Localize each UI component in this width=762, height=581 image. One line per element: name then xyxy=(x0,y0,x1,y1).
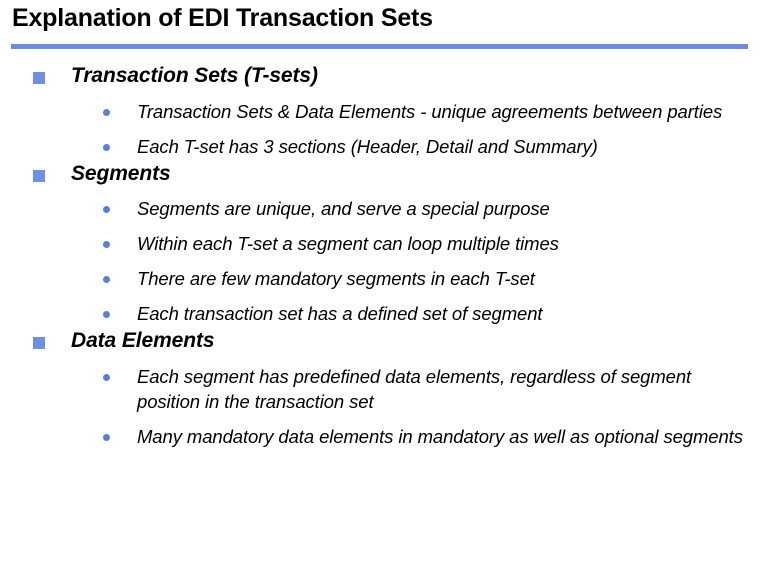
round-bullet-icon xyxy=(103,109,110,116)
round-bullet-icon xyxy=(103,206,110,213)
list-item: There are few mandatory segments in each… xyxy=(0,267,762,292)
section-transaction-sets: Transaction Sets (T-sets) Transaction Se… xyxy=(0,62,762,160)
round-bullet-icon xyxy=(103,374,110,381)
list-item-label: There are few mandatory segments in each… xyxy=(137,268,535,289)
section-heading-label: Data Elements xyxy=(71,329,214,352)
list-item-label: Each transaction set has a defined set o… xyxy=(137,303,542,324)
round-bullet-icon xyxy=(103,276,110,283)
slide: Explanation of EDI Transaction Sets Tran… xyxy=(0,0,762,581)
list-item-label: Transaction Sets & Data Elements - uniqu… xyxy=(137,101,722,122)
list-item-label: Many mandatory data elements in mandator… xyxy=(137,426,743,447)
section-heading-label: Segments xyxy=(71,162,171,185)
section-segments: Segments Segments are unique, and serve … xyxy=(0,160,762,328)
round-bullet-icon xyxy=(103,434,110,441)
square-bullet-icon xyxy=(33,72,45,84)
list-item: Transaction Sets & Data Elements - uniqu… xyxy=(0,100,762,125)
round-bullet-icon xyxy=(103,144,110,151)
slide-body: Transaction Sets (T-sets) Transaction Se… xyxy=(0,62,762,450)
section-heading: Segments xyxy=(0,160,762,188)
list-item-label: Each T-set has 3 sections (Header, Detai… xyxy=(137,136,598,157)
list-item: Within each T-set a segment can loop mul… xyxy=(0,232,762,257)
section-heading: Data Elements xyxy=(0,327,762,355)
section-data-elements: Data Elements Each segment has predefine… xyxy=(0,327,762,450)
list-item: Each T-set has 3 sections (Header, Detai… xyxy=(0,135,762,160)
list-item-label: Each segment has predefined data element… xyxy=(137,366,691,412)
list-item: Each transaction set has a defined set o… xyxy=(0,302,762,327)
section-heading-label: Transaction Sets (T-sets) xyxy=(71,64,318,87)
list-item: Each segment has predefined data element… xyxy=(0,365,762,415)
title-divider-rule xyxy=(11,44,748,49)
round-bullet-icon xyxy=(103,311,110,318)
list-item: Many mandatory data elements in mandator… xyxy=(0,425,762,450)
square-bullet-icon xyxy=(33,337,45,349)
list-item-label: Segments are unique, and serve a special… xyxy=(137,198,550,219)
list-item-label: Within each T-set a segment can loop mul… xyxy=(137,233,559,254)
list-item: Segments are unique, and serve a special… xyxy=(0,197,762,222)
round-bullet-icon xyxy=(103,241,110,248)
section-heading: Transaction Sets (T-sets) xyxy=(0,62,762,90)
page-title: Explanation of EDI Transaction Sets xyxy=(12,4,433,33)
square-bullet-icon xyxy=(33,170,45,182)
